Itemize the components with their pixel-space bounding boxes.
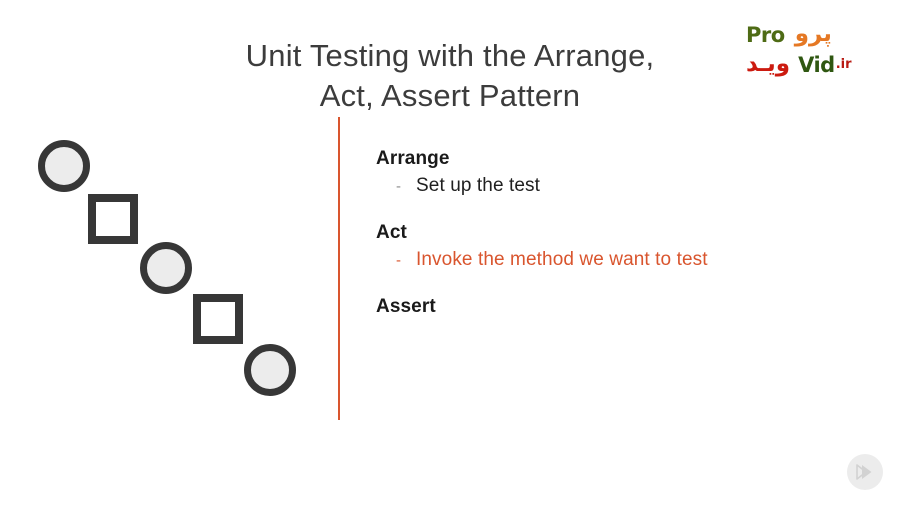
- slide-canvas: Unit Testing with the Arrange, Act, Asse…: [0, 0, 900, 506]
- content-list: Arrange - Set up the test Act - Invoke t…: [376, 148, 846, 323]
- section-heading-assert: Assert: [376, 296, 846, 318]
- shape-circle-1: [38, 140, 90, 192]
- section-heading-act: Act: [376, 222, 846, 244]
- shape-square-2: [193, 294, 243, 344]
- next-clip-button[interactable]: [847, 454, 883, 490]
- vertical-divider: [338, 117, 340, 420]
- decorative-shape-chain: [0, 0, 330, 506]
- bullet-act: - Invoke the method we want to test: [396, 249, 846, 271]
- provid-logo: Pro پرو ویـد Vid .ir: [746, 18, 872, 84]
- shape-circle-2: [140, 242, 192, 294]
- play-next-icon: [855, 463, 875, 481]
- logo-row-top: Pro پرو: [746, 18, 872, 51]
- shape-circle-3: [244, 344, 296, 396]
- bullet-dash-icon: -: [396, 178, 416, 195]
- logo-row-bottom: ویـد Vid .ir: [746, 48, 872, 81]
- logo-text-vid: Vid: [798, 53, 835, 77]
- logo-text-pro: Pro: [746, 23, 785, 47]
- bullet-arrange: - Set up the test: [396, 175, 846, 197]
- shape-square-1: [88, 194, 138, 244]
- section-heading-arrange: Arrange: [376, 148, 846, 170]
- logo-farsi-bottom: ویـد: [746, 53, 790, 76]
- logo-farsi-top: پرو: [795, 23, 832, 46]
- bullet-dash-icon: -: [396, 252, 416, 269]
- bullet-text-arrange: Set up the test: [416, 175, 540, 197]
- logo-text-ir: .ir: [836, 57, 852, 72]
- bullet-text-act: Invoke the method we want to test: [416, 249, 708, 271]
